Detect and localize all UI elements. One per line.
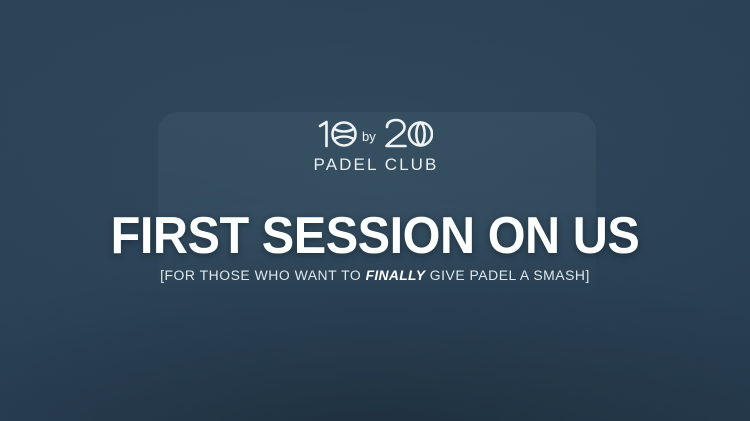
subtitle-suffix: GIVE PADEL A SMASH] <box>425 268 590 284</box>
svg-text:by: by <box>362 129 376 144</box>
promo-subtitle: [FOR THOSE WHO WANT TO FINALLY GIVE PADE… <box>8 268 743 285</box>
subtitle-emphasis: FINALLY <box>366 268 426 284</box>
promo-banner: by PADEL CLUB FIRST SESSION ON US [FOR T… <box>0 0 750 421</box>
brand-logo: by PADEL CLUB <box>0 117 750 173</box>
10by20-ball-logo-icon: by <box>317 117 433 151</box>
brand-wordmark: PADEL CLUB <box>0 156 750 173</box>
promo-headline: FIRST SESSION ON US <box>24 210 725 262</box>
subtitle-prefix: [FOR THOSE WHO WANT TO <box>160 268 366 284</box>
